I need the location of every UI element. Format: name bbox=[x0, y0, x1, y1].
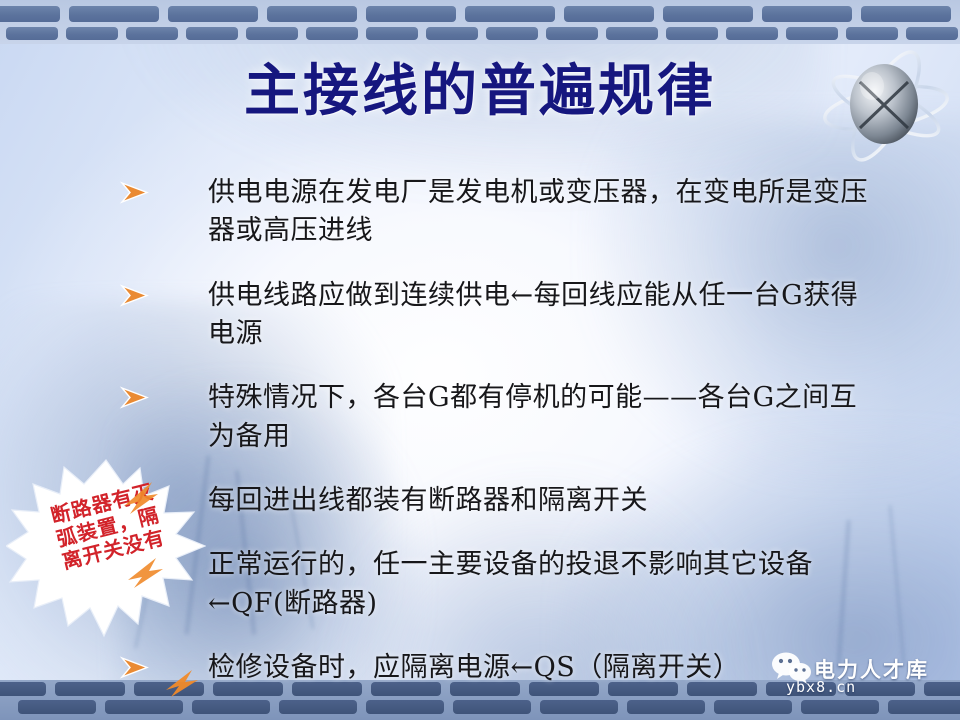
brick-border-top bbox=[0, 0, 960, 44]
watermark-url: ybx8.cn bbox=[786, 678, 856, 696]
list-item[interactable]: 特殊情况下，各台G都有停机的可能——各台G之间互为备用 bbox=[118, 379, 908, 456]
bullet-list: 供电电源在发电厂是发电机或变压器，在变电所是变压器或高压进线 供电线路应做到连续… bbox=[118, 174, 908, 701]
list-item[interactable]: 供电电源在发电厂是发电机或变压器，在变电所是变压器或高压进线 bbox=[118, 174, 908, 251]
starburst-callout[interactable]: 断路器有灭 弧装置，隔 离开关没有 bbox=[6, 458, 206, 638]
list-item-text: 特殊情况下，各台G都有停机的可能——各台G之间互为备用 bbox=[208, 379, 880, 456]
list-item-text: 每回进出线都装有断路器和隔离开关 bbox=[208, 482, 880, 520]
arrow-bullet-icon bbox=[118, 655, 152, 681]
list-item-text: 供电电源在发电厂是发电机或变压器，在变电所是变压器或高压进线 bbox=[208, 174, 880, 251]
list-item[interactable]: 正常运行的，任一主要设备的投退不影响其它设备←QF(断路器) bbox=[118, 546, 908, 623]
arrow-bullet-icon bbox=[118, 180, 152, 206]
page-title: 主接线的普遍规律 bbox=[0, 62, 960, 121]
list-item[interactable]: 每回进出线都装有断路器和隔离开关 bbox=[118, 482, 908, 520]
watermark: 电力人才库 ybx8.cn bbox=[768, 648, 960, 710]
list-item[interactable]: 供电线路应做到连续供电←每回线应能从任一台G获得电源 bbox=[118, 277, 908, 354]
arrow-bullet-icon bbox=[118, 385, 152, 411]
brick-top-svg bbox=[0, 0, 960, 44]
arrow-bullet-icon bbox=[118, 283, 152, 309]
slide-canvas: 主接线的普遍规律 供电电源在发电厂是发电机或变压器，在变电所是变压器或高压进线 … bbox=[0, 0, 960, 720]
list-item-text: 供电线路应做到连续供电←每回线应能从任一台G获得电源 bbox=[208, 277, 880, 354]
list-item-text: 正常运行的，任一主要设备的投退不影响其它设备←QF(断路器) bbox=[208, 546, 880, 623]
